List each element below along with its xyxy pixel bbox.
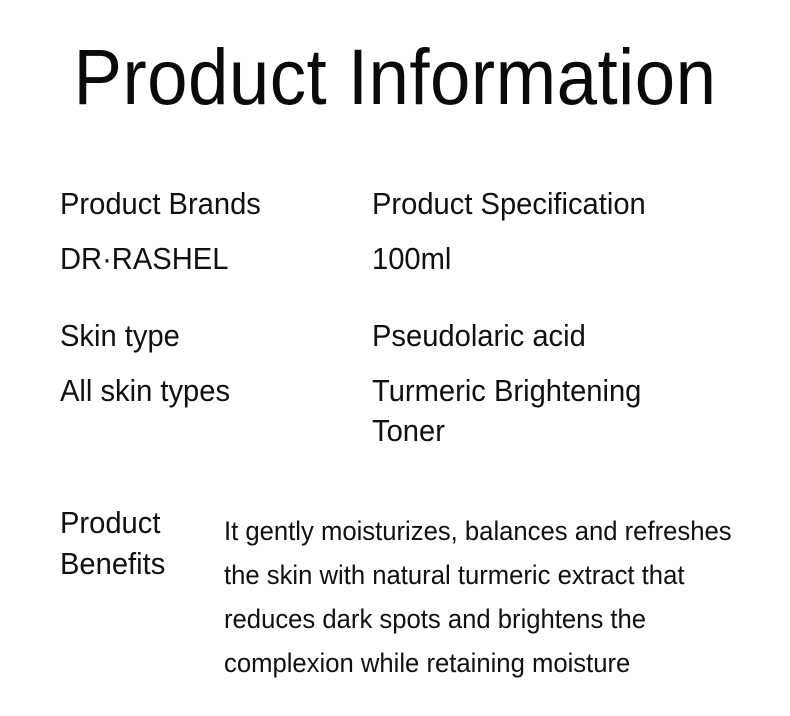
spec-value-product-name: Turmeric Brightening Toner [372,371,706,451]
spec-label-skin-type: Skin type [60,317,353,354]
spec-row-skin-type-ingredient: Skin type All skin types Pseudolaric aci… [60,317,760,451]
specification-grid: Product Brands DR·RASHEL Product Specifi… [60,185,760,451]
product-benefits-label-line2: Benefits [60,543,214,584]
product-benefits-label-line1: Product [60,502,214,543]
spec-value-product-specification: 100ml [372,239,737,279]
spec-label-product-brands: Product Brands [60,185,353,222]
page-title: Product Information [32,34,759,120]
spec-cell-product-brands: Product Brands DR·RASHEL [60,185,372,279]
spec-cell-product-name: Pseudolaric acid Turmeric Brightening To… [372,317,760,451]
product-benefits-section: Product Benefits It gently moisturizes, … [60,502,780,685]
product-information-page: Product Information Product Brands DR·RA… [0,0,790,716]
spec-value-product-brands: DR·RASHEL [60,239,353,279]
spec-cell-skin-type: Skin type All skin types [60,317,372,411]
product-benefits-text: It gently moisturizes, balances and refr… [224,509,752,685]
spec-row-brand-specification: Product Brands DR·RASHEL Product Specifi… [60,185,760,279]
product-benefits-label: Product Benefits [60,502,214,584]
spec-label-pseudolaric-acid: Pseudolaric acid [372,317,737,354]
spec-cell-product-specification: Product Specification 100ml [372,185,760,279]
spec-value-skin-type: All skin types [60,371,353,411]
spec-label-product-specification: Product Specification [372,185,737,222]
